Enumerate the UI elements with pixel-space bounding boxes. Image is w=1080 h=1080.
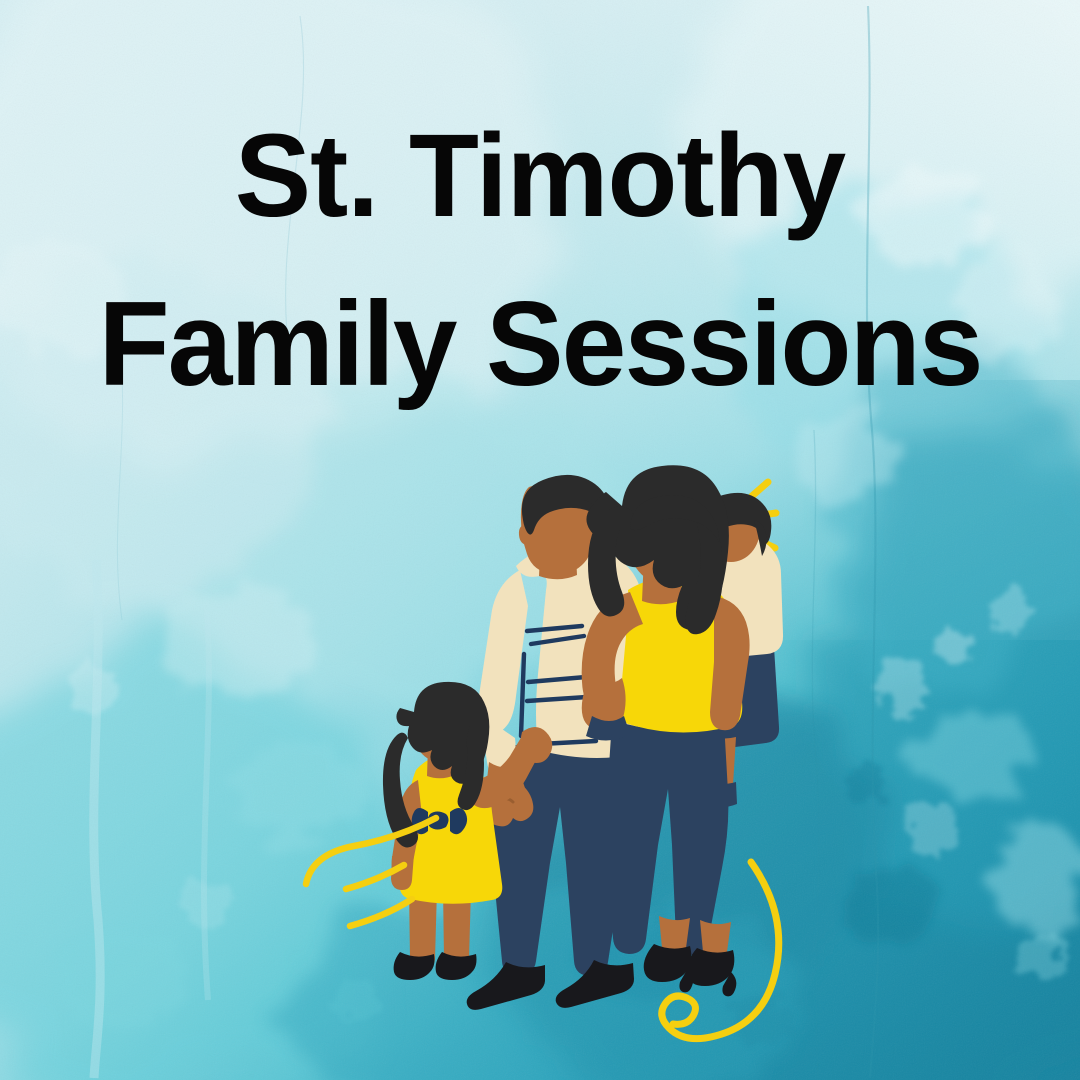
family-illustration bbox=[0, 0, 1080, 1080]
poster-canvas: St. Timothy Family Sessions bbox=[0, 0, 1080, 1080]
